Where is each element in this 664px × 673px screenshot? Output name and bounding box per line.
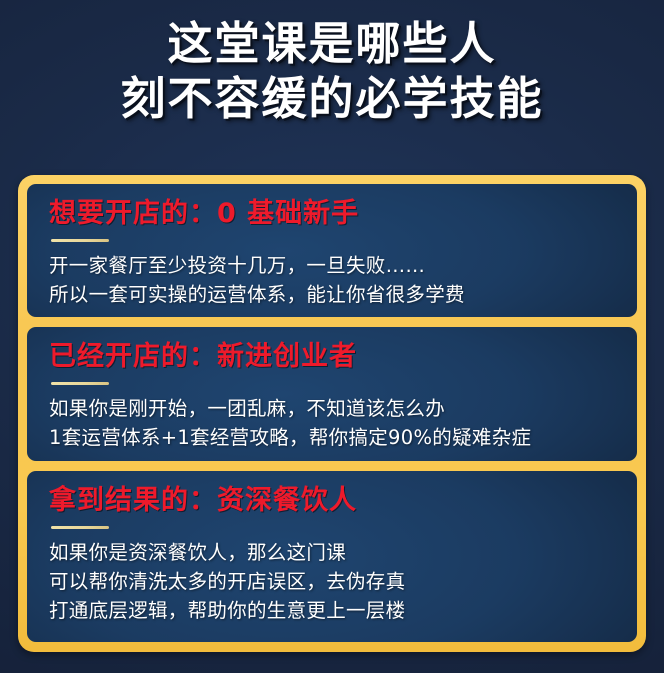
promo-poster: 这堂课是哪些人 刻不容缓的必学技能 想要开店的：0 基础新手 开一家餐厅至少投资…: [0, 0, 664, 673]
audience-card-3-line-3: 打通底层逻辑，帮助你的生意更上一层楼: [49, 596, 615, 625]
audience-card-2-line-2: 1套运营体系+1套经营攻略，帮你搞定90%的疑难杂症: [49, 423, 615, 452]
audience-card-1-line-2: 所以一套可实操的运营体系，能让你省很多学费: [49, 280, 615, 309]
audience-card-3-heading: 拿到结果的：资深餐饮人: [49, 485, 615, 517]
audience-card-2-body: 如果你是刚开始，一团乱麻，不知道该怎么办 1套运营体系+1套经营攻略，帮你搞定9…: [49, 394, 615, 452]
audience-card-2-heading: 已经开店的：新进创业者: [49, 341, 615, 373]
audience-card-1-divider: [51, 239, 109, 242]
title-line-2: 刻不容缓的必学技能: [0, 71, 664, 126]
audience-card-1-body: 开一家餐厅至少投资十几万，一旦失败…… 所以一套可实操的运营体系，能让你省很多学…: [49, 251, 615, 309]
audience-card-3-line-2: 可以帮你清洗太多的开店误区，去伪存真: [49, 567, 615, 596]
audience-card-2-divider: [51, 382, 109, 385]
audience-card-frame: 想要开店的：0 基础新手 开一家餐厅至少投资十几万，一旦失败…… 所以一套可实操…: [18, 175, 646, 652]
poster-title: 这堂课是哪些人 刻不容缓的必学技能: [0, 16, 664, 126]
audience-card-3-body: 如果你是资深餐饮人，那么这门课 可以帮你清洗太多的开店误区，去伪存真 打通底层逻…: [49, 538, 615, 625]
audience-card-3-divider: [51, 526, 109, 529]
audience-card-3-line-1: 如果你是资深餐饮人，那么这门课: [49, 538, 615, 567]
audience-card-2-line-1: 如果你是刚开始，一团乱麻，不知道该怎么办: [49, 394, 615, 423]
audience-card-2: 已经开店的：新进创业者 如果你是刚开始，一团乱麻，不知道该怎么办 1套运营体系+…: [27, 327, 637, 461]
audience-card-1: 想要开店的：0 基础新手 开一家餐厅至少投资十几万，一旦失败…… 所以一套可实操…: [27, 184, 637, 317]
title-line-1: 这堂课是哪些人: [0, 16, 664, 71]
audience-card-1-line-1: 开一家餐厅至少投资十几万，一旦失败……: [49, 251, 615, 280]
audience-card-1-heading: 想要开店的：0 基础新手: [49, 198, 615, 230]
audience-card-3: 拿到结果的：资深餐饮人 如果你是资深餐饮人，那么这门课 可以帮你清洗太多的开店误…: [27, 471, 637, 642]
